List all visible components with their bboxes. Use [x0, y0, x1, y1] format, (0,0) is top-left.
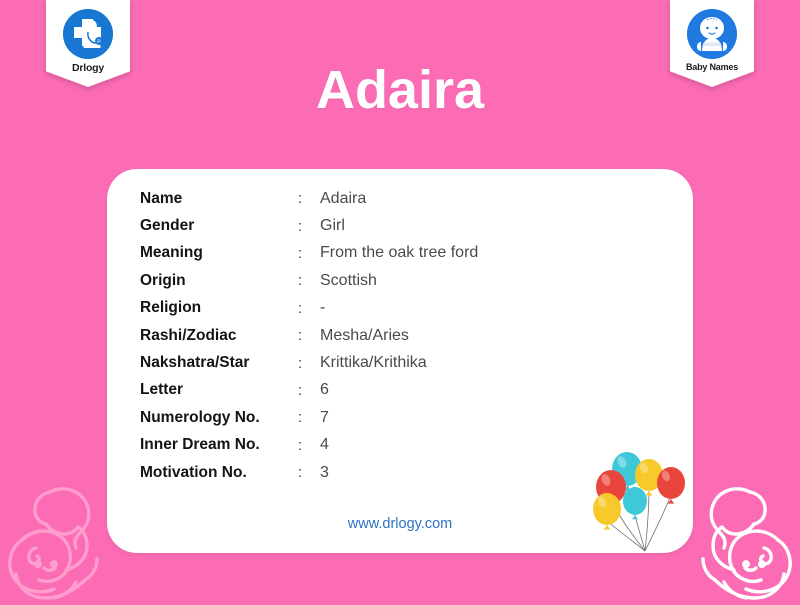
table-row: Numerology No. : 7 — [140, 404, 478, 431]
row-separator: : — [298, 295, 320, 322]
row-value: Mesha/Aries — [320, 322, 478, 349]
name-info-table-body: Name : Adaira Gender : Girl Meaning : Fr… — [140, 185, 478, 486]
table-row: Religion : - — [140, 295, 478, 322]
table-row: Nakshatra/Star : Krittika/Krithika — [140, 349, 478, 376]
row-label: Meaning — [140, 240, 298, 267]
row-separator: : — [298, 404, 320, 431]
mother-and-baby-icon — [688, 470, 800, 600]
row-value: Scottish — [320, 267, 478, 294]
table-row: Origin : Scottish — [140, 267, 478, 294]
row-value: 3 — [320, 459, 478, 486]
row-value: 4 — [320, 432, 478, 459]
row-value: Krittika/Krithika — [320, 349, 478, 376]
table-row: Meaning : From the oak tree ford — [140, 240, 478, 267]
row-value: Girl — [320, 212, 478, 239]
row-separator: : — [298, 432, 320, 459]
table-row: Gender : Girl — [140, 212, 478, 239]
row-separator: : — [298, 267, 320, 294]
table-row: Name : Adaira — [140, 185, 478, 212]
row-label: Gender — [140, 212, 298, 239]
row-separator: : — [298, 459, 320, 486]
row-label: Origin — [140, 267, 298, 294]
row-separator: : — [298, 240, 320, 267]
row-separator: : — [298, 212, 320, 239]
balloons-icon — [589, 447, 691, 553]
baby-icon — [687, 9, 737, 59]
row-value: - — [320, 295, 478, 322]
table-row: Rashi/Zodiac : Mesha/Aries — [140, 322, 478, 349]
row-separator: : — [298, 377, 320, 404]
row-separator: : — [298, 349, 320, 376]
page-title: Adaira — [0, 63, 800, 117]
row-label: Religion — [140, 295, 298, 322]
row-label: Motivation No. — [140, 459, 298, 486]
table-row: Motivation No. : 3 — [140, 459, 478, 486]
row-value: Adaira — [320, 185, 478, 212]
row-label: Nakshatra/Star — [140, 349, 298, 376]
row-value: From the oak tree ford — [320, 240, 478, 267]
row-separator: : — [298, 185, 320, 212]
name-info-card: Name : Adaira Gender : Girl Meaning : Fr… — [107, 169, 693, 553]
table-row: Letter : 6 — [140, 377, 478, 404]
row-label: Letter — [140, 377, 298, 404]
row-separator: : — [298, 322, 320, 349]
row-label: Name — [140, 185, 298, 212]
row-label: Inner Dream No. — [140, 432, 298, 459]
website-url-link[interactable]: www.drlogy.com — [107, 516, 693, 532]
mother-and-baby-icon — [0, 470, 112, 600]
row-label: Rashi/Zodiac — [140, 322, 298, 349]
row-label: Numerology No. — [140, 404, 298, 431]
row-value: 6 — [320, 377, 478, 404]
svg-text:P: P — [97, 39, 101, 45]
table-row: Inner Dream No. : 4 — [140, 432, 478, 459]
name-info-table: Name : Adaira Gender : Girl Meaning : Fr… — [140, 185, 478, 486]
row-value: 7 — [320, 404, 478, 431]
doctor-medical-cross-icon: P — [63, 9, 113, 59]
